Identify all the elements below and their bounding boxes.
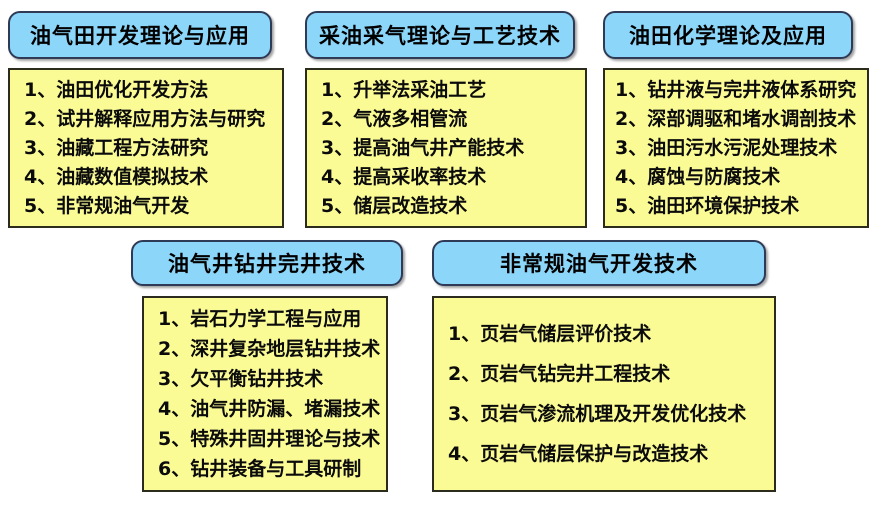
list-item: 3、提高油气井产能技术 xyxy=(321,134,585,163)
list-item: 2、深井复杂地层钻井技术 xyxy=(158,334,386,364)
list-item: 4、油气井防漏、堵漏技术 xyxy=(158,394,386,424)
group-title: 采油采气理论与工艺技术 xyxy=(319,20,561,50)
group-body-reservoir-development: 1、油田优化开发方法 2、试井解释应用方法与研究 3、油藏工程方法研究 4、油藏… xyxy=(8,68,284,228)
list-item: 1、岩石力学工程与应用 xyxy=(158,304,386,334)
list-item: 5、非常规油气开发 xyxy=(24,192,282,221)
group-reservoir-development: 油气田开发理论与应用 1、油田优化开发方法 2、试井解释应用方法与研究 3、油藏… xyxy=(8,11,284,228)
list-item: 5、油田环境保护技术 xyxy=(615,192,867,221)
group-header-reservoir-development: 油气田开发理论与应用 xyxy=(8,11,272,59)
list-item: 1、钻井液与完井液体系研究 xyxy=(615,76,867,105)
group-unconventional-development: 非常规油气开发技术 1、页岩气储层评价技术 2、页岩气钻完井工程技术 3、页岩气… xyxy=(432,240,776,492)
group-body-unconventional-development: 1、页岩气储层评价技术 2、页岩气钻完井工程技术 3、页岩气渗流机理及开发优化技… xyxy=(432,296,776,492)
list-item: 2、页岩气钻完井工程技术 xyxy=(448,354,774,394)
list-item: 2、深部调驱和堵水调剖技术 xyxy=(615,105,867,134)
group-body-oilfield-chemistry: 1、钻井液与完井液体系研究 2、深部调驱和堵水调剖技术 3、油田污水污泥处理技术… xyxy=(603,68,869,228)
group-drilling-completion: 油气井钻井完井技术 1、岩石力学工程与应用 2、深井复杂地层钻井技术 3、欠平衡… xyxy=(131,240,403,492)
list-item: 5、特殊井固井理论与技术 xyxy=(158,424,386,454)
list-item: 1、页岩气储层评价技术 xyxy=(448,314,774,354)
group-oilfield-chemistry: 油田化学理论及应用 1、钻井液与完井液体系研究 2、深部调驱和堵水调剖技术 3、… xyxy=(603,11,869,228)
list-item: 4、腐蚀与防腐技术 xyxy=(615,163,867,192)
group-body-oil-gas-production: 1、升举法采油工艺 2、气液多相管流 3、提高油气井产能技术 4、提高采收率技术… xyxy=(305,68,587,228)
list-item: 1、升举法采油工艺 xyxy=(321,76,585,105)
list-item: 3、油藏工程方法研究 xyxy=(24,134,282,163)
list-item: 6、钻井装备与工具研制 xyxy=(158,454,386,484)
group-header-drilling-completion: 油气井钻井完井技术 xyxy=(131,240,403,286)
list-item: 2、试井解释应用方法与研究 xyxy=(24,105,282,134)
group-header-unconventional-development: 非常规油气开发技术 xyxy=(432,240,766,286)
list-item: 3、页岩气渗流机理及开发优化技术 xyxy=(448,394,774,434)
list-item: 4、油藏数值模拟技术 xyxy=(24,163,282,192)
list-item: 4、页岩气储层保护与改造技术 xyxy=(448,434,774,474)
group-header-oilfield-chemistry: 油田化学理论及应用 xyxy=(603,11,853,59)
group-body-drilling-completion: 1、岩石力学工程与应用 2、深井复杂地层钻井技术 3、欠平衡钻井技术 4、油气井… xyxy=(142,296,388,492)
group-title: 油气井钻井完井技术 xyxy=(168,248,366,278)
group-title: 非常规油气开发技术 xyxy=(500,248,698,278)
diagram-canvas: 油气田开发理论与应用 1、油田优化开发方法 2、试井解释应用方法与研究 3、油藏… xyxy=(0,0,875,515)
list-item: 4、提高采收率技术 xyxy=(321,163,585,192)
list-item: 3、油田污水污泥处理技术 xyxy=(615,134,867,163)
group-oil-gas-production: 采油采气理论与工艺技术 1、升举法采油工艺 2、气液多相管流 3、提高油气井产能… xyxy=(305,11,587,228)
group-title: 油田化学理论及应用 xyxy=(629,20,827,50)
list-item: 1、油田优化开发方法 xyxy=(24,76,282,105)
list-item: 2、气液多相管流 xyxy=(321,105,585,134)
group-title: 油气田开发理论与应用 xyxy=(30,20,250,50)
list-item: 5、储层改造技术 xyxy=(321,192,585,221)
list-item: 3、欠平衡钻井技术 xyxy=(158,364,386,394)
group-header-oil-gas-production: 采油采气理论与工艺技术 xyxy=(305,11,575,59)
